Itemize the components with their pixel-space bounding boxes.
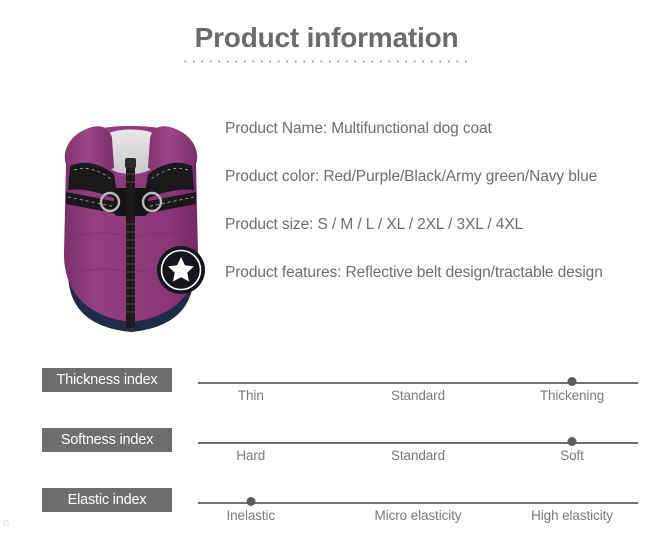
thickness-tick-0: Thin bbox=[238, 388, 264, 403]
spec-product-features: Product features: Reflective belt design… bbox=[225, 264, 645, 282]
zipper-tape bbox=[126, 160, 135, 328]
elastic-scale-line bbox=[198, 502, 638, 504]
softness-scale[interactable]: Hard Standard Soft bbox=[198, 422, 638, 474]
elastic-scale-marker[interactable] bbox=[246, 497, 255, 506]
softness-index-row: Softness index Hard Standard Soft bbox=[0, 422, 653, 480]
thickness-scale[interactable]: Thin Standard Thickening bbox=[198, 362, 638, 414]
elastic-tick-1: Micro elasticity bbox=[375, 508, 462, 523]
thickness-scale-ticks: Thin Standard Thickening bbox=[198, 388, 638, 412]
softness-index-label: Softness index bbox=[42, 428, 172, 452]
softness-tick-1: Standard bbox=[391, 448, 445, 463]
zipper-pull bbox=[125, 158, 136, 168]
elastic-scale-ticks: Inelastic Micro elasticity High elastici… bbox=[198, 508, 638, 532]
elastic-index-row: Elastic index Inelastic Micro elasticity… bbox=[0, 482, 653, 540]
dotted-divider bbox=[181, 60, 473, 63]
spec-product-size: Product size: S / M / L / XL / 2XL / 3XL… bbox=[225, 216, 645, 234]
softness-scale-ticks: Hard Standard Soft bbox=[198, 448, 638, 472]
dog-coat-illustration bbox=[52, 104, 210, 336]
page-title: Product information bbox=[0, 22, 653, 54]
thickness-tick-1: Standard bbox=[391, 388, 445, 403]
elastic-scale[interactable]: Inelastic Micro elasticity High elastici… bbox=[198, 482, 638, 534]
elastic-tick-2: High elasticity bbox=[531, 508, 613, 523]
fashion-sports-badge bbox=[157, 246, 205, 294]
elastic-tick-0: Inelastic bbox=[226, 508, 275, 523]
thickness-tick-2: Thickening bbox=[540, 388, 604, 403]
corner-mark: o bbox=[3, 517, 9, 529]
product-spec-list: Product Name: Multifunctional dog coat P… bbox=[225, 120, 645, 312]
softness-tick-0: Hard bbox=[236, 448, 265, 463]
thickness-index-label: Thickness index bbox=[42, 368, 172, 392]
elastic-index-label: Elastic index bbox=[42, 488, 172, 512]
spec-product-name: Product Name: Multifunctional dog coat bbox=[225, 120, 645, 138]
spec-product-color: Product color: Red/Purple/Black/Army gre… bbox=[225, 168, 645, 186]
softness-tick-2: Soft bbox=[560, 448, 584, 463]
thickness-index-row: Thickness index Thin Standard Thickening bbox=[0, 362, 653, 420]
product-image bbox=[52, 104, 210, 336]
softness-scale-marker[interactable] bbox=[568, 437, 577, 446]
thickness-scale-marker[interactable] bbox=[568, 377, 577, 386]
